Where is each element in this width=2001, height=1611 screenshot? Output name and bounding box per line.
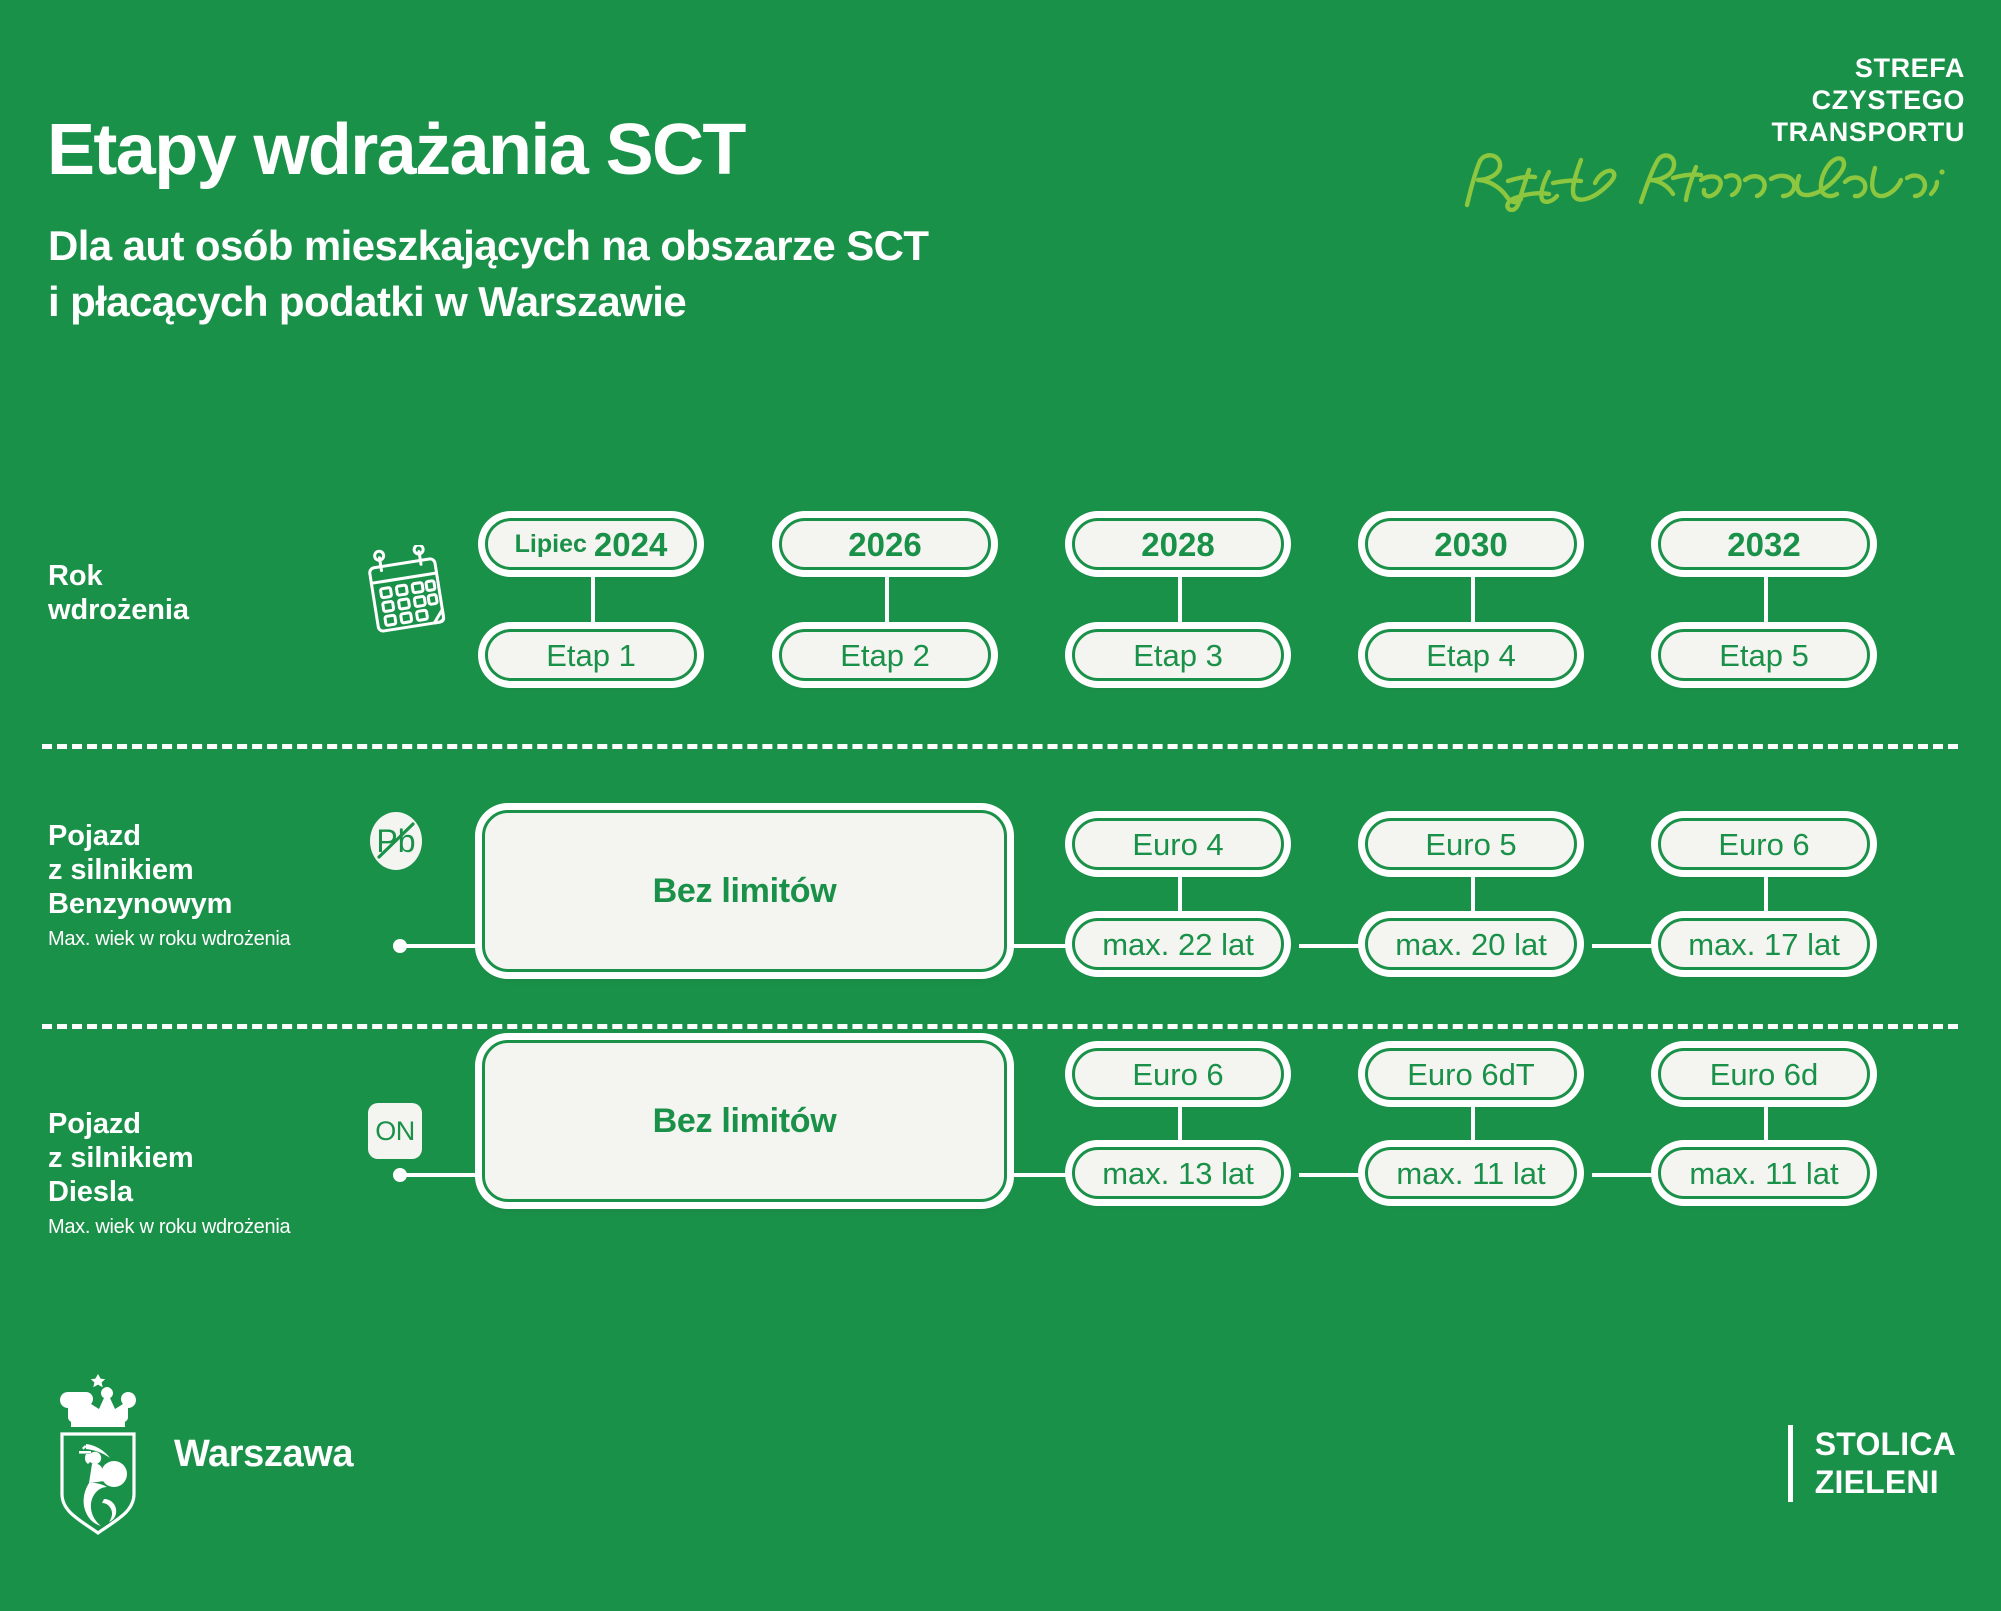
page-subtitle: Dla aut osób mieszkających na obszarze S… — [48, 218, 928, 331]
year-stage-connector — [1178, 560, 1182, 640]
stage-pill-3[interactable]: Etap 3 — [1072, 629, 1284, 681]
year-pill-1[interactable]: Lipiec2024 — [485, 518, 697, 570]
stolica-zieleni-line-2: ZIELENI — [1815, 1463, 1956, 1501]
petrol-panel-to-age-connector — [1004, 944, 1079, 948]
mayor-signature-icon — [1445, 150, 1965, 212]
year-pill-3[interactable]: 2028 — [1072, 518, 1284, 570]
warszawa-label: Warszawa — [174, 1433, 353, 1476]
row-year-label-line-2: wdrożenia — [48, 594, 189, 628]
diesel-panel-to-age-connector — [1004, 1173, 1079, 1177]
year-value-1: 2024 — [594, 528, 667, 561]
year-stage-connector — [1764, 560, 1768, 640]
page-subtitle-line-2: i płacących podatki w Warszawie — [48, 274, 928, 330]
petrol-dot-to-panel-connector — [400, 944, 490, 948]
pb-no-lead-icon: Pb — [370, 812, 422, 870]
year-value-4: 2030 — [1434, 528, 1507, 561]
petrol-standard-pill-2[interactable]: Euro 5 — [1365, 818, 1577, 870]
diesel-age-connector — [1592, 1173, 1667, 1177]
stolica-zieleni-logo: STOLICA ZIELENI — [1788, 1425, 1956, 1502]
petrol-standard-pill-3[interactable]: Euro 6 — [1658, 818, 1870, 870]
diesel-connector-dot — [393, 1168, 407, 1182]
diesel-standard-pill-1[interactable]: Euro 6 — [1072, 1048, 1284, 1100]
diesel-age-pill-2[interactable]: max. 11 lat — [1365, 1147, 1577, 1199]
year-stage-connector — [1471, 560, 1475, 640]
warszawa-logo: Warszawa — [48, 1370, 353, 1538]
logo-line-2: CZYSTEGO — [1445, 84, 1965, 116]
vertical-rule — [1788, 1425, 1793, 1502]
stage-pill-1[interactable]: Etap 1 — [485, 629, 697, 681]
petrol-standard-pill-1[interactable]: Euro 4 — [1072, 818, 1284, 870]
row-petrol-sublabel: Max. wiek w roku wdrożenia — [48, 928, 290, 951]
petrol-age-pill-1[interactable]: max. 22 lat — [1072, 918, 1284, 970]
calendar-icon — [363, 545, 449, 642]
row-diesel-label-line-1: Pojazd — [48, 1108, 290, 1142]
diesel-standard-pill-2[interactable]: Euro 6dT — [1365, 1048, 1577, 1100]
divider-year-petrol — [42, 744, 1958, 749]
year-pill-4[interactable]: 2030 — [1365, 518, 1577, 570]
year-value-5: 2032 — [1727, 528, 1800, 561]
diesel-age-pill-3[interactable]: max. 11 lat — [1658, 1147, 1870, 1199]
diesel-standard-pill-3[interactable]: Euro 6d — [1658, 1048, 1870, 1100]
page-title: Etapy wdrażania SCT — [47, 114, 745, 186]
row-diesel-label-line-2: z silnikiem — [48, 1142, 290, 1176]
logo-line-1: STREFA — [1445, 52, 1965, 84]
row-diesel-label-line-3: Diesla — [48, 1176, 290, 1210]
year-value-3: 2028 — [1141, 528, 1214, 561]
row-diesel-sublabel: Max. wiek w roku wdrożenia — [48, 1216, 290, 1239]
diesel-no-limit-panel[interactable]: Bez limitów — [482, 1040, 1007, 1202]
stage-pill-4[interactable]: Etap 4 — [1365, 629, 1577, 681]
row-year-label-line-1: Rok — [48, 560, 189, 594]
diesel-dot-to-panel-connector — [400, 1173, 490, 1177]
year-stage-connector — [885, 560, 889, 640]
page-subtitle-line-1: Dla aut osób mieszkających na obszarze S… — [48, 218, 928, 274]
row-label-diesel: Pojazd z silnikiem Diesla Max. wiek w ro… — [48, 1108, 290, 1239]
on-diesel-icon-label: ON — [368, 1103, 422, 1159]
diesel-age-connector — [1299, 1173, 1374, 1177]
row-petrol-label-line-1: Pojazd — [48, 820, 290, 854]
row-label-petrol: Pojazd z silnikiem Benzynowym Max. wiek … — [48, 820, 290, 951]
petrol-age-connector — [1299, 944, 1374, 948]
year-value-2: 2026 — [848, 528, 921, 561]
diesel-age-pill-1[interactable]: max. 13 lat — [1072, 1147, 1284, 1199]
sct-brand-logo: STREFA CZYSTEGO TRANSPORTU — [1445, 52, 1965, 212]
year-stage-connector — [591, 560, 595, 640]
petrol-age-pill-2[interactable]: max. 20 lat — [1365, 918, 1577, 970]
petrol-age-pill-3[interactable]: max. 17 lat — [1658, 918, 1870, 970]
stage-pill-5[interactable]: Etap 5 — [1658, 629, 1870, 681]
petrol-age-connector — [1592, 944, 1667, 948]
row-petrol-label-line-3: Benzynowym — [48, 888, 290, 922]
stage-pill-2[interactable]: Etap 2 — [779, 629, 991, 681]
row-label-year: Rok wdrożenia — [48, 560, 189, 628]
year-pill-2[interactable]: 2026 — [779, 518, 991, 570]
stolica-zieleni-line-1: STOLICA — [1815, 1425, 1956, 1463]
petrol-connector-dot — [393, 939, 407, 953]
logo-line-3: TRANSPORTU — [1445, 116, 1965, 148]
year-pill-5[interactable]: 2032 — [1658, 518, 1870, 570]
petrol-no-limit-panel[interactable]: Bez limitów — [482, 810, 1007, 972]
row-petrol-label-line-2: z silnikiem — [48, 854, 290, 888]
year-prefix-1: Lipiec — [515, 532, 587, 557]
on-diesel-icon: ON — [368, 1103, 422, 1159]
divider-petrol-diesel — [42, 1024, 1958, 1029]
warszawa-coat-of-arms-icon — [48, 1370, 148, 1538]
